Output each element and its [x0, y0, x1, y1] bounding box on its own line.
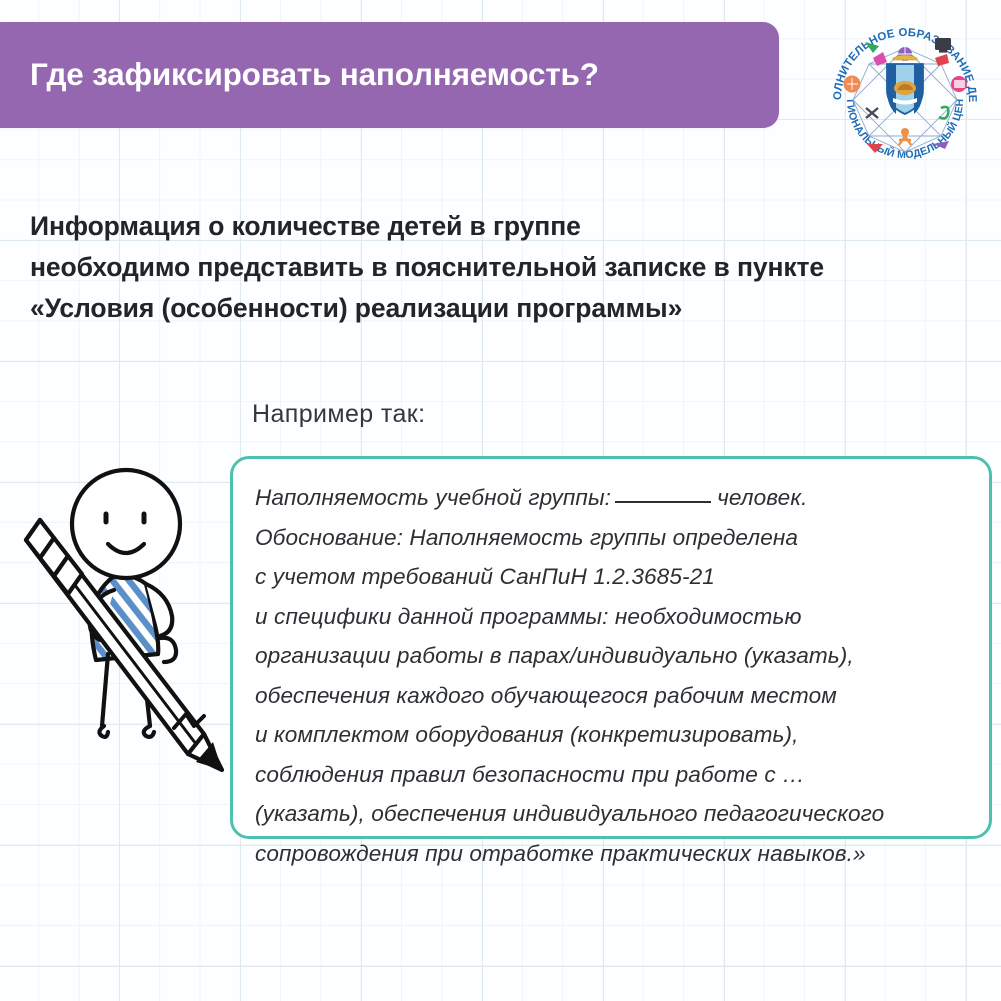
- example-line-7: и комплектом оборудования (конкретизиров…: [255, 715, 979, 755]
- page-title: Где зафиксировать наполняемость?: [30, 56, 599, 93]
- example-line-1: Наполняемость учебной группы:человек.: [255, 478, 979, 518]
- lead-line-2: необходимо представить в пояснительной з…: [30, 247, 960, 288]
- logo-coat-of-arms: [887, 54, 923, 114]
- example-line-10: сопровождения при отработке практических…: [255, 834, 979, 874]
- blank-underline: [615, 501, 711, 503]
- header-banner: Где зафиксировать наполняемость?: [0, 22, 779, 128]
- example-line-2: Обоснование: Наполняемость группы опреде…: [255, 518, 979, 558]
- example-box: Наполняемость учебной группы:человек. Об…: [230, 456, 992, 839]
- example-line-6: обеспечения каждого обучающегося рабочим…: [255, 676, 979, 716]
- example-line-4: и специфики данной программы: необходимо…: [255, 597, 979, 637]
- lead-line-3: «Условия (особенности) реализации програ…: [30, 288, 960, 329]
- slide-root: Где зафиксировать наполняемость? ДОПОЛНИ…: [0, 0, 1001, 1001]
- example-caption: Например так:: [252, 400, 425, 429]
- regional-model-center-logo: ДОПОЛНИТЕЛЬНОЕ ОБРАЗОВАНИЕ ДЕТЕЙ РЕГИОНА…: [823, 12, 987, 176]
- example-line-1-before: Наполняемость учебной группы:: [255, 485, 611, 510]
- stick-figure-with-pencil-illustration: [8, 452, 240, 850]
- example-line-3: с учетом требований СанПиН 1.2.3685-21: [255, 557, 979, 597]
- example-line-1-after: человек.: [717, 485, 807, 510]
- example-line-8: соблюдения правил безопасности при работ…: [255, 755, 979, 795]
- lead-line-1: Информация о количестве детей в группе: [30, 206, 960, 247]
- example-line-9: (указать), обеспечения индивидуального п…: [255, 794, 979, 834]
- lead-paragraph: Информация о количестве детей в группе н…: [30, 206, 960, 329]
- example-box-text: Наполняемость учебной группы:человек. Об…: [255, 478, 979, 873]
- example-line-5: организации работы в парах/индивидуально…: [255, 636, 979, 676]
